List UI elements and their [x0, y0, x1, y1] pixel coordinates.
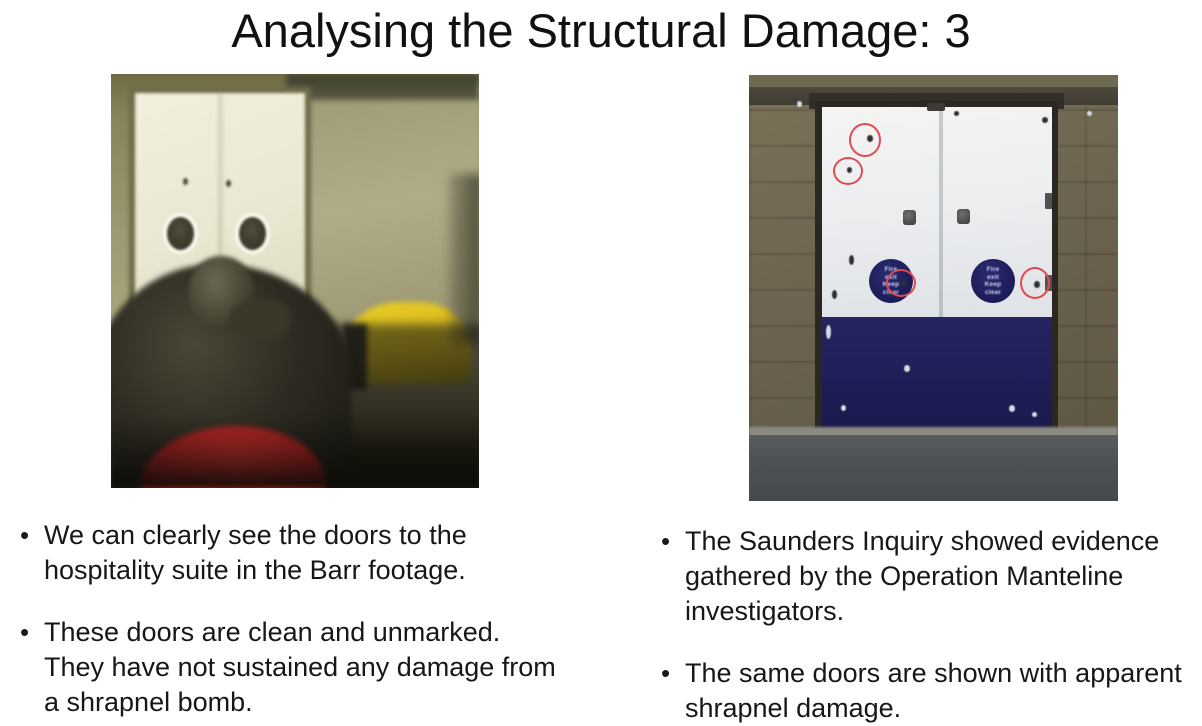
bullet-marker: • [14, 518, 44, 552]
bullet-marker: • [655, 656, 685, 690]
right-photo-door-handle-left [903, 210, 916, 225]
left-photo-porthole-window-1 [167, 217, 194, 250]
sign-line-3: Keep [985, 281, 1002, 289]
left-photo-porthole-window-2 [239, 217, 266, 250]
bullet-marker: • [14, 615, 44, 649]
shrapnel-damage-circle-4 [1020, 267, 1050, 299]
list-item: • The same doors are shown with apparent… [655, 656, 1202, 726]
right-photo-ground [749, 435, 1118, 501]
damage-mark-7 [1042, 117, 1048, 123]
right-photo-lintel-top-brick [749, 75, 1118, 87]
left-photo-door-fixing-2 [226, 180, 231, 187]
blue-panel-speck-2 [826, 325, 831, 339]
left-photo-right-edge-shadow [449, 174, 479, 344]
shrapnel-damage-circle-2 [833, 157, 863, 185]
right-photo-hinge-upper [1045, 193, 1052, 209]
right-photo-door-handle-right [957, 209, 970, 224]
damage-mark-8 [954, 111, 959, 116]
shrapnel-damage-circle-3 [886, 269, 916, 297]
sign-line-4: clear [985, 289, 1001, 297]
left-photo-door-fixing-1 [183, 178, 188, 185]
list-item: • We can clearly see the doors to the ho… [14, 518, 614, 588]
bullet-text: We can clearly see the doors to the hosp… [44, 518, 614, 588]
list-item: • The Saunders Inquiry showed evidence g… [655, 524, 1202, 629]
left-bullet-list: • We can clearly see the doors to the ho… [14, 518, 614, 720]
brick-speck-1 [797, 101, 802, 107]
list-item: • These doors are clean and unmarked. Th… [14, 615, 614, 720]
sign-line-2: exit [987, 274, 999, 282]
damage-mark-6 [832, 290, 837, 299]
blue-panel-speck-3 [841, 405, 846, 411]
fire-exit-keep-clear-sign-right: Fire exit Keep clear [971, 259, 1015, 303]
left-photo-ceiling-beam [286, 74, 479, 100]
page-title: Analysing the Structural Damage: 3 [0, 2, 1202, 60]
bullet-text: These doors are clean and unmarked. They… [44, 615, 614, 720]
blue-panel-speck-1 [904, 365, 910, 372]
left-photo-bottom-shading [111, 418, 479, 488]
right-photo-door-split [939, 107, 943, 317]
right-bullet-list: • The Saunders Inquiry showed evidence g… [655, 524, 1202, 726]
left-photo-person-arm [229, 299, 291, 339]
bullet-marker: • [655, 524, 685, 558]
barr-footage-still-image [111, 74, 479, 488]
damage-mark-5 [849, 255, 854, 265]
blue-panel-speck-5 [1032, 412, 1037, 417]
blue-panel-speck-4 [1009, 405, 1015, 412]
bullet-text: The Saunders Inquiry showed evidence gat… [685, 524, 1202, 629]
saunders-inquiry-door-image: Fire exit Keep clear Fire exit Keep clea… [749, 75, 1118, 501]
shrapnel-damage-circle-1 [849, 123, 881, 157]
sign-line-1: Fire [987, 266, 1000, 274]
bullet-text: The same doors are shown with apparent s… [685, 656, 1202, 726]
right-photo-top-fixing [927, 103, 945, 111]
brick-speck-2 [1087, 111, 1092, 116]
